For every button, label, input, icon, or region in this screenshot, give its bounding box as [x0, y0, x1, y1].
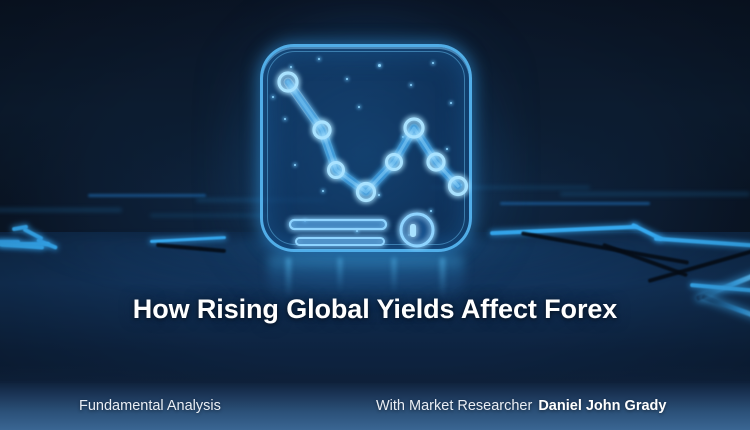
circuit-trace — [560, 192, 750, 196]
icon-reflection-streak — [440, 258, 445, 298]
icon-reflection-streak — [338, 258, 342, 292]
circuit-trace — [88, 194, 206, 197]
chart-line — [288, 82, 458, 192]
page-title: How Rising Global Yields Affect Forex — [0, 294, 750, 325]
circular-gauge — [401, 214, 433, 246]
circuit-trace — [0, 208, 122, 212]
bar-secondary — [296, 238, 384, 245]
icon-chart-graphics — [260, 44, 472, 252]
category-label: Fundamental Analysis — [79, 398, 221, 414]
credit-line: With Market ResearcherDaniel John Grady — [376, 398, 666, 414]
bar-primary — [290, 220, 386, 229]
analytics-chart-icon — [260, 44, 472, 252]
icon-reflection-streak — [392, 258, 396, 294]
presenter-name: Daniel John Grady — [538, 398, 666, 414]
footer-band-fade — [0, 365, 750, 383]
hero-banner: How Rising Global Yields Affect Forex Fu… — [0, 0, 750, 430]
credit-prefix: With Market Researcher — [376, 398, 532, 414]
icon-reflection-streak — [286, 258, 291, 298]
